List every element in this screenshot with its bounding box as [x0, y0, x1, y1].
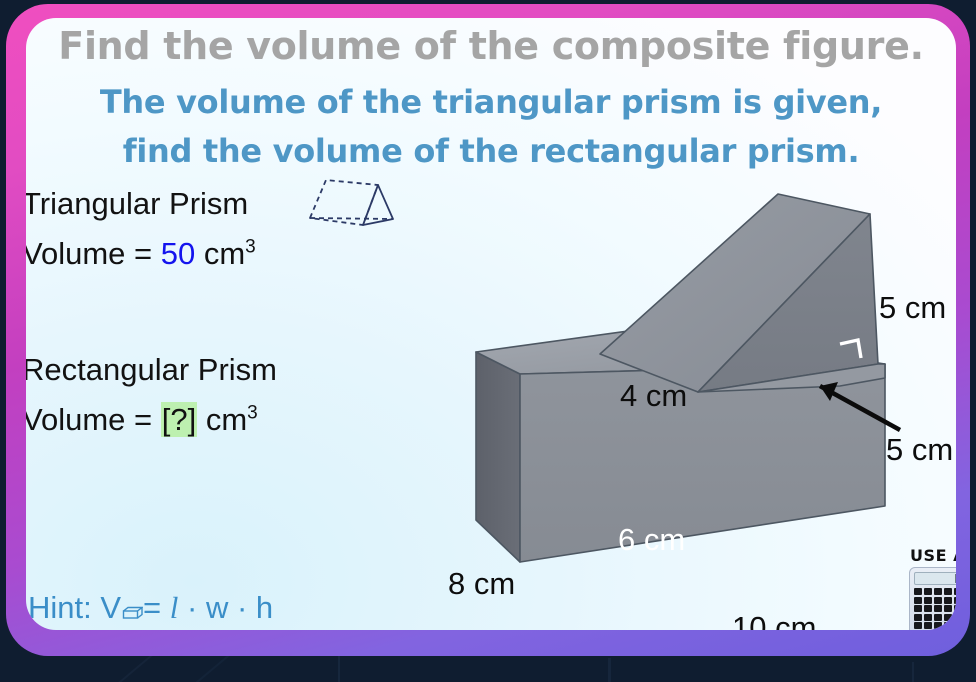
triangular-prism-sketch-icon: [306, 171, 398, 241]
screenshot-root: Find the volume of the composite figure.…: [0, 0, 976, 682]
rectangular-volume-prefix: Volume =: [26, 402, 161, 437]
use-a-calculator-badge[interactable]: USE A: [906, 545, 956, 630]
triangular-prism-label: Triangular Prism: [26, 186, 248, 222]
slide-frame: Find the volume of the composite figure.…: [6, 4, 970, 656]
dimension-label-4cm: 4 cm: [620, 378, 687, 414]
calculator-caption: USE A: [906, 545, 956, 567]
hint-width: w: [206, 590, 228, 625]
calculator-keypad: [914, 588, 956, 630]
dimension-label-6cm: 6 cm: [618, 522, 685, 558]
page-subtitle-line-1: The volume of the triangular prism is gi…: [26, 78, 956, 127]
calculator-icon: [909, 567, 956, 630]
page-subtitle: The volume of the triangular prism is gi…: [26, 78, 956, 175]
dimension-label-8cm: 8 cm: [448, 566, 515, 602]
dimension-label-5cm-base: 5 cm: [886, 432, 953, 468]
hint-dot-1: ·: [178, 590, 206, 625]
backdrop-decoration: [912, 662, 914, 682]
triangular-volume-prefix: Volume =: [26, 236, 161, 271]
calculator-screen: [914, 572, 956, 585]
composite-figure: 4 cm 5 cm 5 cm 6 cm 8 cm 10 cm: [430, 168, 930, 630]
dimension-label-5cm-slant: 5 cm: [879, 290, 946, 326]
triangular-volume-value: 50: [161, 236, 195, 271]
page-title: Find the volume of the composite figure.: [26, 24, 956, 68]
answer-input-placeholder[interactable]: [?]: [161, 402, 197, 437]
hint-height: h: [256, 590, 273, 625]
rectangular-prism-volume: Volume = [?] cm3: [26, 402, 258, 438]
hint-prefix: Hint: V: [28, 590, 121, 625]
triangular-volume-unit: cm: [195, 236, 245, 271]
rectangular-prism-label: Rectangular Prism: [26, 352, 277, 388]
triangular-prism-volume: Volume = 50 cm3: [26, 236, 256, 272]
unit-exponent: 3: [245, 237, 256, 258]
hint-dot-2: ·: [228, 590, 256, 625]
rectangular-volume-unit: cm: [197, 402, 247, 437]
rectangular-prism-subscript-icon: [121, 592, 143, 606]
unit-exponent: 3: [247, 403, 258, 424]
slide-card: Find the volume of the composite figure.…: [26, 18, 956, 630]
backdrop-decoration: [608, 658, 611, 682]
hint-equals: =: [143, 590, 170, 625]
dimension-label-10cm: 10 cm: [732, 610, 816, 630]
hint-text: Hint: V = l · w · h: [28, 590, 273, 626]
